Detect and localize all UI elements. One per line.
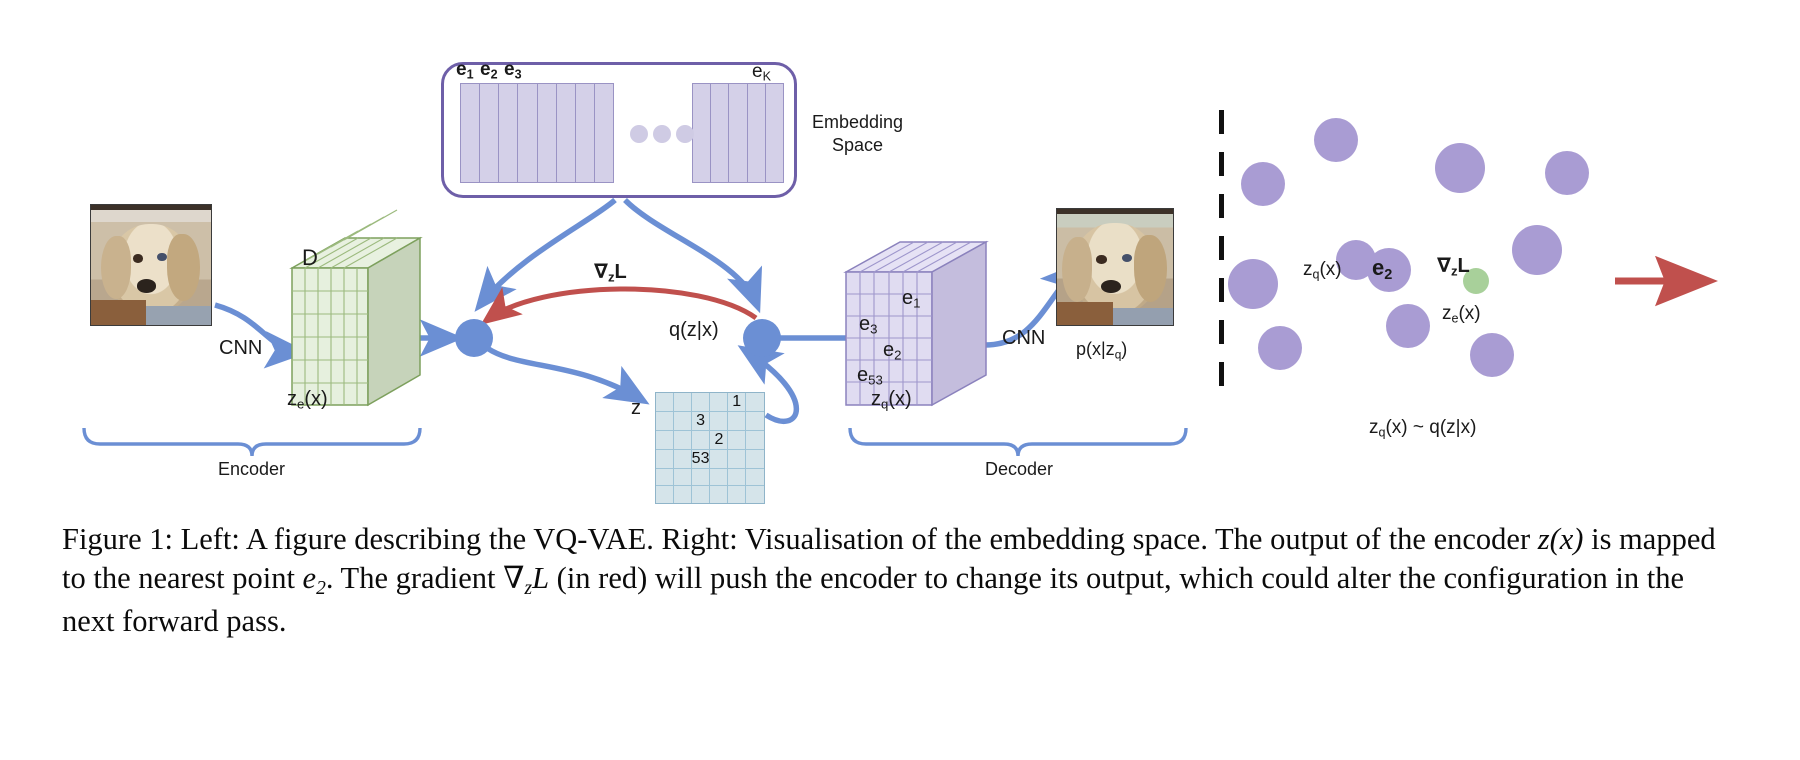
embedding-space-label-line2: Space xyxy=(812,136,903,156)
cnn-label-decoder: CNN xyxy=(1002,327,1045,349)
embedding-column xyxy=(766,84,783,182)
dog-ear-left xyxy=(101,236,131,298)
embedding-dot xyxy=(1545,151,1589,195)
figure-caption: Figure 1: Left: A figure describing the … xyxy=(62,520,1742,641)
dog-body-right xyxy=(146,306,211,325)
output-image-dog xyxy=(1056,208,1174,326)
arrow-node-to-qgrid xyxy=(487,348,642,400)
embedding-column xyxy=(711,84,729,182)
qzx-cell xyxy=(728,431,746,450)
qzx-cell: 1 xyxy=(728,393,746,412)
qzx-cell xyxy=(728,450,746,469)
embedding-column xyxy=(499,84,518,182)
qzx-cell xyxy=(746,486,764,503)
embedding-dot xyxy=(1512,225,1562,275)
embedding-column xyxy=(480,84,499,182)
bracket-label-encoder: Encoder xyxy=(218,460,285,480)
caption-prefix: Figure 1: Left: A figure describing the … xyxy=(62,522,1538,556)
ellipsis-dot xyxy=(653,125,671,143)
dog-body-left xyxy=(91,300,146,325)
embedding-dot xyxy=(1386,304,1430,348)
nearest-embedding-label-e2: e2 xyxy=(1372,256,1392,284)
dog-nose xyxy=(137,279,156,292)
q-distribution-label: q(z|x) xyxy=(669,319,719,341)
reconstruction-label: p(x|zq) xyxy=(1076,340,1127,361)
qzx-cell xyxy=(674,431,692,450)
quantize-node-right xyxy=(743,319,781,357)
bracket-encoder xyxy=(84,428,420,456)
qzx-cell xyxy=(656,469,674,486)
embedding-space-visualisation: zq(x) e2 ∇zL ze(x) zq(x) ~ q(z|x) xyxy=(1215,60,1800,490)
qzx-cell xyxy=(710,450,728,469)
embedding-dot xyxy=(1435,143,1485,193)
qzx-cell xyxy=(692,393,711,412)
vqvae-figure: e1 e2 e3 eK Embedding Space xyxy=(0,0,1800,510)
caption-math-nabla-sub: z xyxy=(524,578,532,599)
embedding-dot xyxy=(1241,162,1285,206)
qzx-cell xyxy=(674,450,692,469)
dog-ear-right xyxy=(167,234,201,301)
embedding-column xyxy=(538,84,557,182)
embedding-space-box xyxy=(441,62,797,198)
zq-label: zq(x) xyxy=(871,388,912,412)
qzx-cell xyxy=(746,431,764,450)
embedding-column xyxy=(576,84,595,182)
qzx-cell xyxy=(674,469,692,486)
qzx-cell xyxy=(746,393,764,412)
photo-top-bar xyxy=(1057,209,1173,214)
qzx-cell xyxy=(674,412,692,431)
cnn-label-encoder: CNN xyxy=(219,337,262,359)
decoder-cell-label-e2: e2 xyxy=(883,339,901,363)
dog-ear-right xyxy=(1134,235,1168,302)
qzx-cell: 53 xyxy=(692,450,711,469)
caption-mid2: . The gradient xyxy=(326,561,503,595)
ellipsis-dot xyxy=(630,125,648,143)
embedding-label-e1: e1 xyxy=(456,60,474,82)
bracket-decoder xyxy=(850,428,1186,456)
z-label: z xyxy=(631,397,641,419)
embedding-column xyxy=(693,84,711,182)
gradient-label-zl: ∇zL xyxy=(594,260,627,285)
depth-label-d: D xyxy=(302,246,318,270)
caption-math-e-sub: 2 xyxy=(316,578,326,599)
zq-distribution-label: zq(x) ~ q(z|x) xyxy=(1369,418,1476,440)
embedding-space-label: Embedding Space xyxy=(812,113,903,156)
embedding-column xyxy=(518,84,537,182)
input-image-dog xyxy=(90,204,212,326)
dog-body-right xyxy=(1113,308,1173,325)
decoder-cell-label-e3: e3 xyxy=(859,313,877,337)
embedding-stack-right xyxy=(692,83,784,183)
qzx-cell: 3 xyxy=(692,412,711,431)
ze-label: ze(x) xyxy=(287,388,328,412)
dog-eye-left xyxy=(133,254,143,262)
quantize-node-left xyxy=(455,319,493,357)
embedding-column xyxy=(461,84,480,182)
qzx-cell xyxy=(656,431,674,450)
embedding-space-label-line1: Embedding xyxy=(812,113,903,133)
encoder-cube xyxy=(292,210,420,405)
bracket-label-decoder: Decoder xyxy=(985,460,1053,480)
qzx-cell xyxy=(710,469,728,486)
qzx-cell xyxy=(710,393,728,412)
zq-label-right: zq(x) xyxy=(1303,260,1342,282)
qzx-cell xyxy=(692,486,711,503)
qzx-cell xyxy=(692,469,711,486)
embedding-label-ek: eK xyxy=(752,62,771,84)
decoder-cell-label-e53: e53 xyxy=(857,364,883,388)
ze-label-right: ze(x) xyxy=(1442,304,1481,326)
qzx-cell xyxy=(728,486,746,503)
embedding-column xyxy=(748,84,766,182)
caption-math-nabla: ∇ xyxy=(503,561,524,596)
qzx-cell xyxy=(656,412,674,431)
embedding-dot xyxy=(1228,259,1278,309)
qzx-cell xyxy=(746,450,764,469)
embedding-dot xyxy=(1258,326,1302,370)
embedding-stack-left xyxy=(460,83,614,183)
decoder-cell-label-e1: e1 xyxy=(902,287,920,311)
qzx-cell: 2 xyxy=(710,431,728,450)
embedding-dot xyxy=(1336,240,1376,280)
qzx-cell xyxy=(674,393,692,412)
qzx-cell xyxy=(656,450,674,469)
embedding-dot xyxy=(1314,118,1358,162)
embedding-label-e3: e3 xyxy=(504,60,522,82)
qzx-cell xyxy=(674,486,692,503)
qzx-grid: 13253 xyxy=(655,392,765,504)
embedding-dot xyxy=(1470,333,1514,377)
caption-math-L: L xyxy=(532,561,549,595)
qzx-cell xyxy=(710,412,728,431)
arrow-gradient-backprop xyxy=(487,289,756,320)
embedding-column xyxy=(557,84,576,182)
photo-top-bar xyxy=(91,205,211,210)
dog-eye-right xyxy=(157,253,167,261)
qzx-cell xyxy=(656,393,674,412)
embedding-column xyxy=(729,84,747,182)
embedding-label-e2: e2 xyxy=(480,60,498,82)
caption-math-e: e xyxy=(303,561,317,595)
dog-ear-left xyxy=(1062,237,1092,302)
qzx-cell xyxy=(692,431,711,450)
dog-eye-left xyxy=(1096,255,1106,263)
qzx-cell xyxy=(728,412,746,431)
dog-nose xyxy=(1101,280,1121,293)
caption-math-zx: z(x) xyxy=(1538,522,1584,556)
qzx-cell xyxy=(746,412,764,431)
qzx-cell xyxy=(728,469,746,486)
qzx-cell xyxy=(710,486,728,503)
qzx-cell xyxy=(746,469,764,486)
embedding-column xyxy=(595,84,613,182)
dog-body-left xyxy=(1057,302,1113,325)
qzx-cell xyxy=(656,486,674,503)
ellipsis-dot xyxy=(676,125,694,143)
gradient-label-right: ∇zL xyxy=(1437,254,1470,279)
